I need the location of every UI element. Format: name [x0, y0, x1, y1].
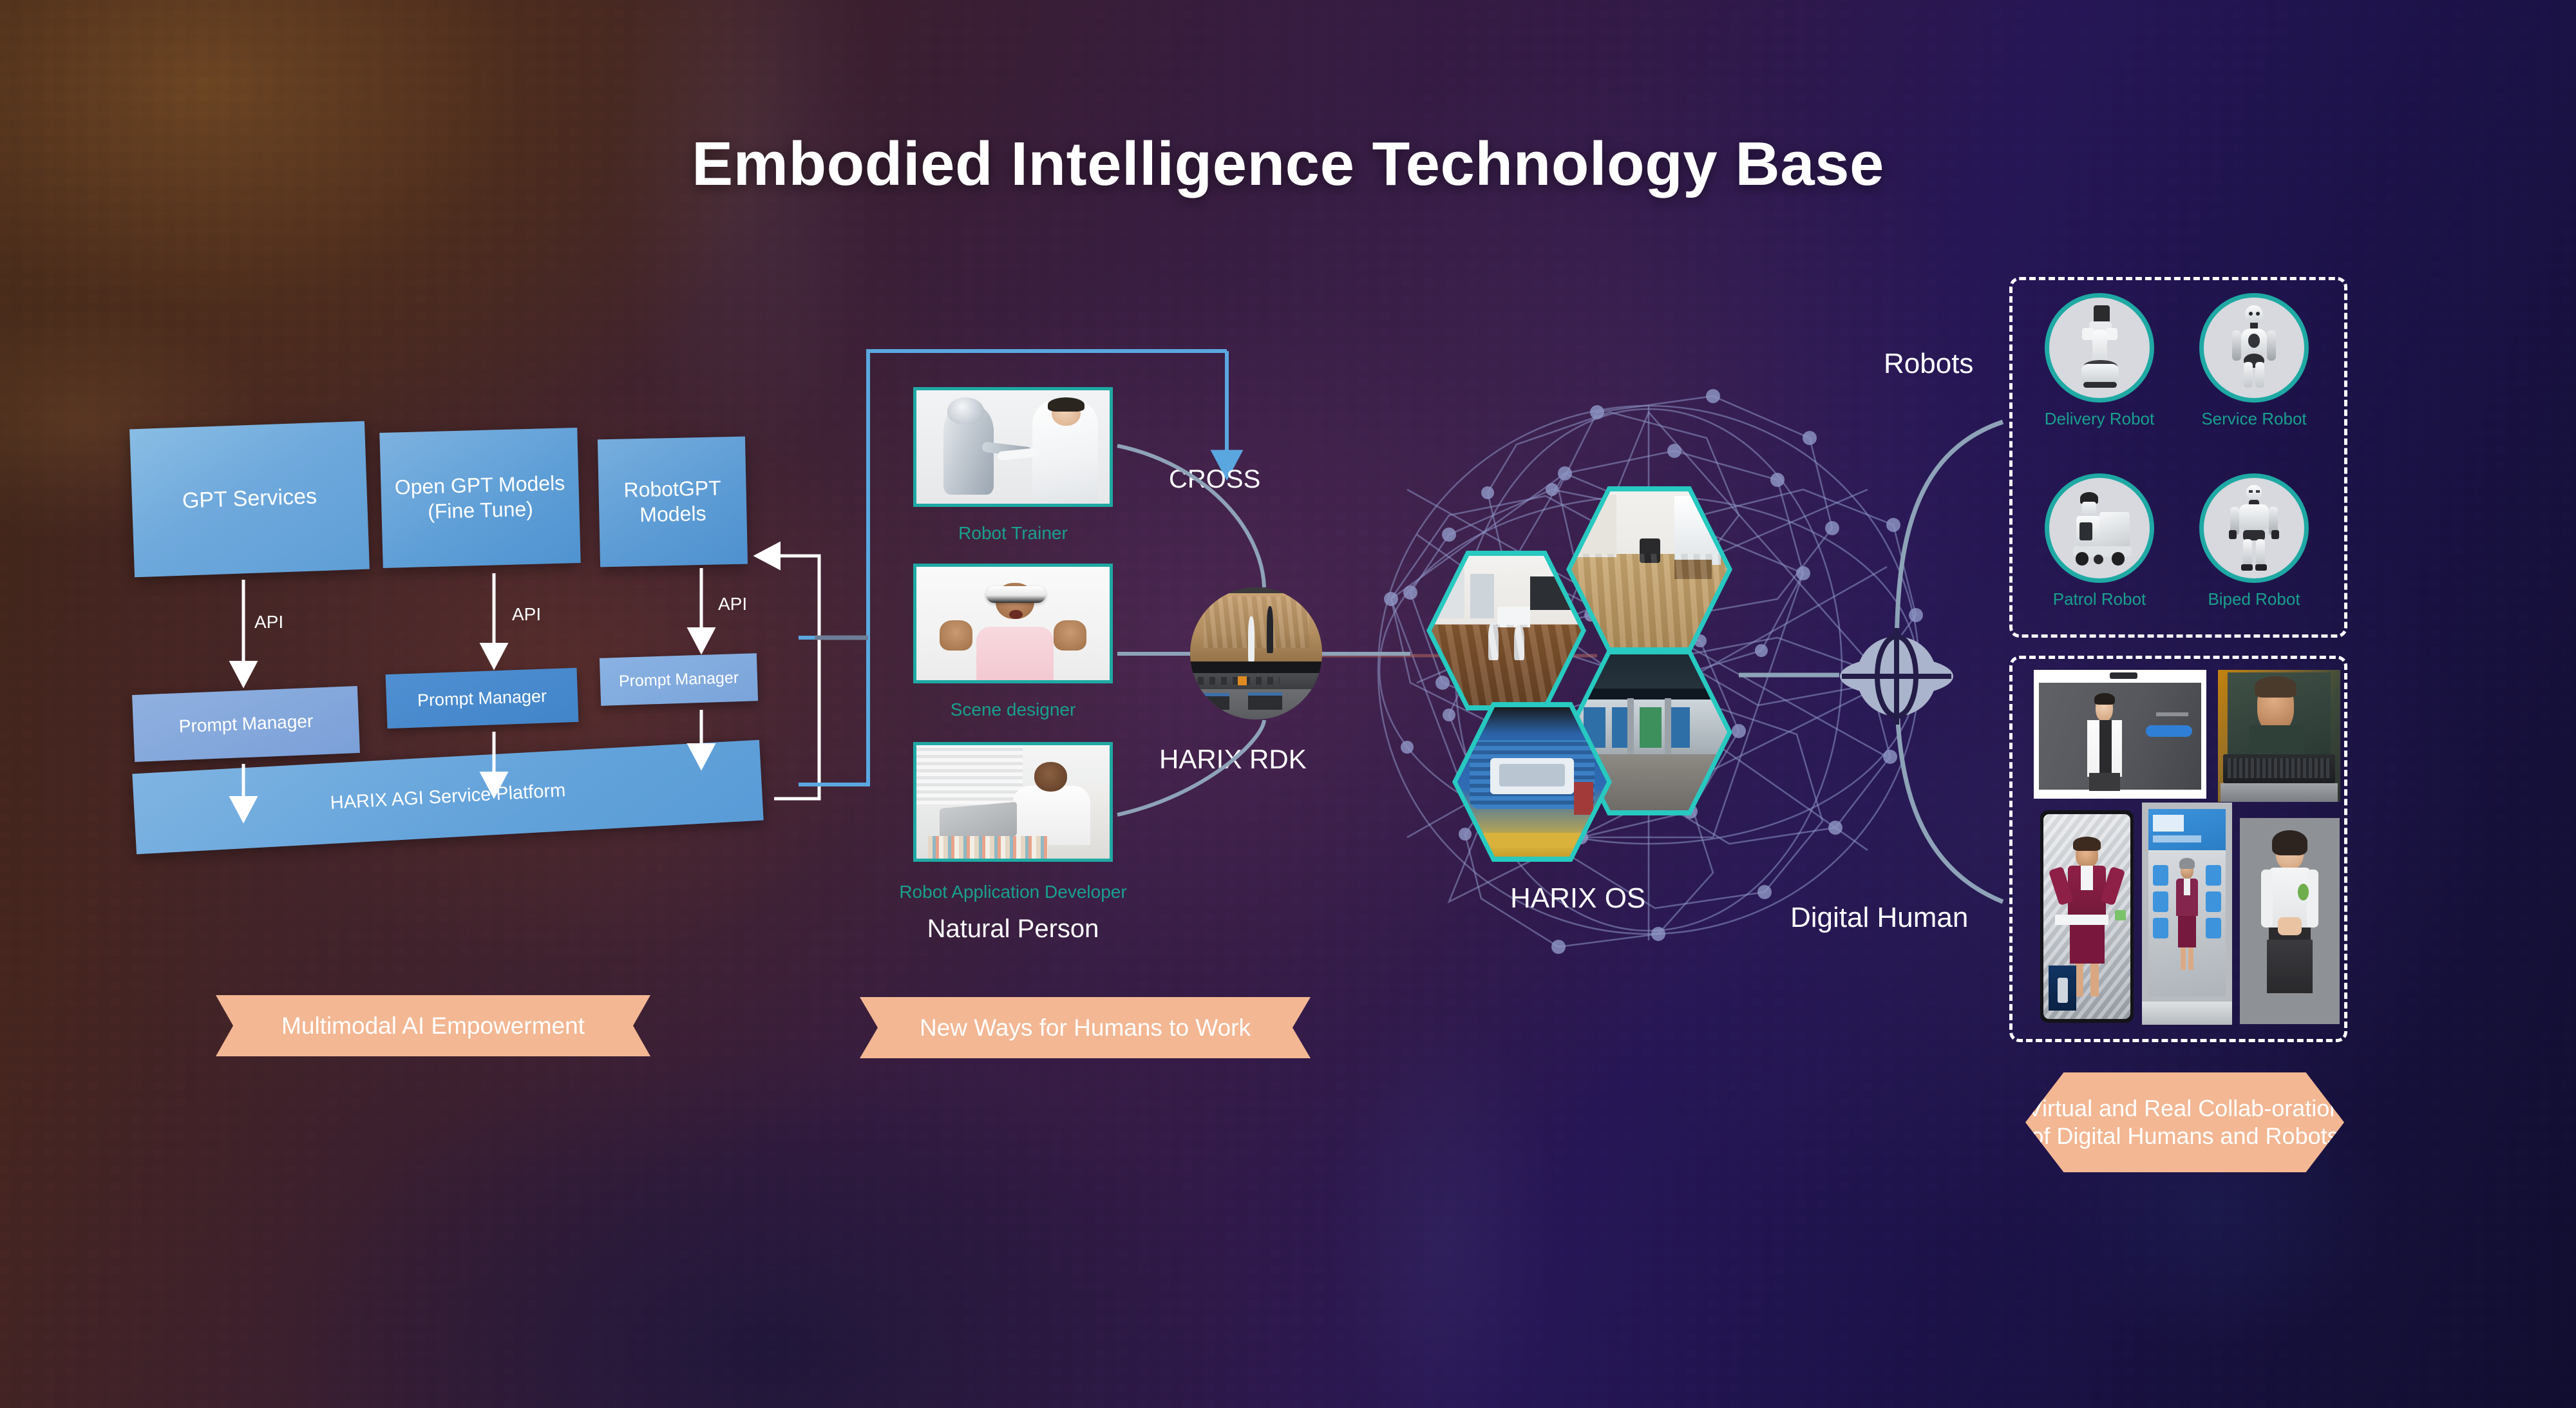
robot-cell-delivery[interactable]: Delivery Robot [2035, 293, 2164, 429]
caption-scene-designer: Scene designer [878, 699, 1148, 720]
banner-newways-label: New Ways for Humans to Work [920, 1014, 1251, 1042]
prompt-manager-3[interactable]: Prompt Manager [600, 653, 758, 706]
caption-robot-trainer: Robot Trainer [878, 523, 1148, 544]
digital-human-avatar[interactable] [2240, 818, 2340, 1024]
banner-virtual-real-collaboration[interactable]: Virtual and Real Collab-oration of Digit… [2025, 1072, 2344, 1172]
globe-icon [1835, 615, 1958, 737]
biped-robot-image [2199, 473, 2309, 583]
api-label-3: API [718, 594, 747, 614]
box-gpt-services[interactable]: GPT Services [129, 421, 370, 578]
box-gpt-services-label: GPT Services [182, 484, 317, 515]
robots-group-label: Robots [1884, 348, 1973, 380]
digital-human-group-label: Digital Human [1790, 902, 1968, 934]
api-label-2: API [512, 604, 541, 625]
box-robotgpt-models[interactable]: RobotGPT Models [598, 437, 748, 567]
box-open-gpt-models-label: Open GPT Models (Fine Tune) [394, 471, 565, 526]
prompt-manager-3-label: Prompt Manager [618, 669, 739, 691]
harix-rdk-label: HARIX RDK [1159, 744, 1307, 775]
banner-new-ways-for-humans-to-work[interactable]: New Ways for Humans to Work [860, 997, 1311, 1058]
digital-human-phone[interactable] [2040, 810, 2134, 1023]
harix-agi-service-platform-label: HARIX AGI Service Platform [330, 780, 566, 814]
page-title: Embodied Intelligence Technology Base [0, 129, 2576, 200]
harix-rdk-thumbnail[interactable] [1190, 587, 1322, 719]
robot-cell-service[interactable]: Service Robot [2190, 293, 2318, 429]
service-robot-image [2199, 293, 2309, 403]
service-robot-label: Service Robot [2190, 409, 2318, 429]
digital-human-kiosk-display[interactable] [2034, 670, 2206, 799]
natural-person-group-label: Natural Person [878, 915, 1148, 944]
cross-label: CROSS [1169, 465, 1260, 494]
robot-cell-biped[interactable]: Biped Robot [2190, 473, 2318, 609]
banner-virtual-label: Virtual and Real Collab-oration of Digit… [2025, 1095, 2344, 1150]
banner-multimodal-ai-empowerment[interactable]: Multimodal AI Empowerment [216, 995, 650, 1056]
prompt-manager-1[interactable]: Prompt Manager [132, 686, 360, 762]
delivery-robot-label: Delivery Robot [2035, 409, 2164, 429]
card-robot-trainer[interactable] [913, 387, 1113, 507]
patrol-robot-image [2045, 473, 2154, 583]
scene-designer-photo [916, 567, 1110, 680]
prompt-manager-2[interactable]: Prompt Manager [386, 668, 579, 728]
card-scene-designer[interactable] [913, 564, 1113, 683]
feedback-loop-arrow [760, 556, 819, 799]
robot-application-developer-photo [916, 745, 1110, 859]
digital-human-laptop-video[interactable] [2218, 670, 2340, 802]
biped-robot-label: Biped Robot [2190, 589, 2318, 609]
robot-cell-patrol[interactable]: Patrol Robot [2035, 473, 2164, 609]
box-robotgpt-models-label: RobotGPT Models [598, 475, 747, 529]
prompt-manager-1-label: Prompt Manager [178, 711, 314, 737]
caption-robot-application-developer: Robot Application Developer [878, 882, 1148, 902]
banner-multimodal-label: Multimodal AI Empowerment [281, 1012, 585, 1040]
card-robot-application-developer[interactable] [913, 742, 1113, 862]
diagram-stage: Embodied Intelligence Technology Base [0, 0, 2576, 1408]
robot-trainer-photo [916, 390, 1110, 504]
box-open-gpt-models[interactable]: Open GPT Models (Fine Tune) [379, 428, 580, 568]
prompt-manager-2-label: Prompt Manager [417, 686, 547, 710]
harix-os-label: HARIX OS [1510, 882, 1645, 915]
digital-human-vertical-kiosk[interactable] [2142, 803, 2232, 1025]
delivery-robot-image [2045, 293, 2154, 403]
api-label-1: API [254, 612, 283, 633]
patrol-robot-label: Patrol Robot [2035, 589, 2164, 609]
